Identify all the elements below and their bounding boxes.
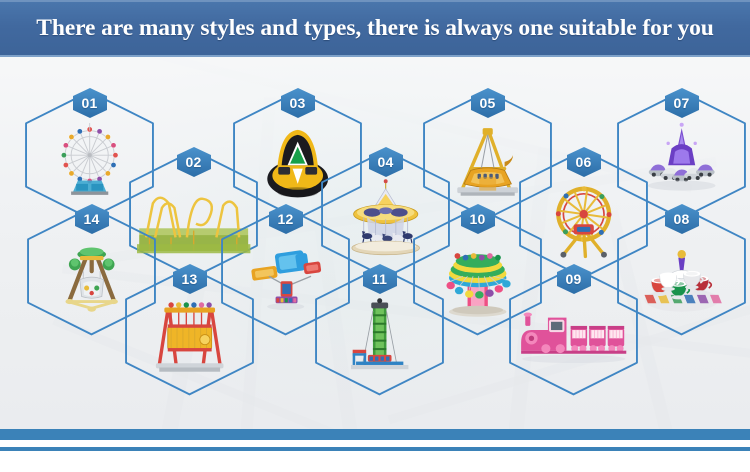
hex-number-label: 06 <box>576 154 592 170</box>
hex-number-badge-07: 07 <box>663 87 701 119</box>
hex-number-badge-13: 13 <box>171 263 209 295</box>
hex-number-badge-08: 08 <box>663 203 701 235</box>
hex-number-label: 09 <box>566 271 582 287</box>
hex-number-badge-14: 14 <box>73 203 111 235</box>
hex-number-badge-04: 04 <box>367 146 405 178</box>
hex-number-label: 11 <box>372 271 387 287</box>
footer-bar-thick <box>0 429 750 440</box>
hex-number-label: 12 <box>278 211 294 227</box>
hex-number-badge-09: 09 <box>555 263 593 295</box>
hex-number-label: 14 <box>84 211 100 227</box>
ride-image-self-control-car <box>625 118 738 202</box>
hex-number-badge-01: 01 <box>71 87 109 119</box>
hex-number-label: 03 <box>290 95 306 111</box>
page-title: There are many styles and types, there i… <box>36 15 713 42</box>
hex-number-label: 07 <box>674 95 690 111</box>
footer-bar-gap <box>0 440 750 447</box>
hex-number-label: 08 <box>674 211 690 227</box>
hex-number-label: 04 <box>378 154 394 170</box>
hex-number-label: 01 <box>82 95 98 111</box>
hex-number-label: 13 <box>182 271 198 287</box>
hex-number-label: 10 <box>470 211 486 227</box>
header-banner: There are many styles and types, there i… <box>0 0 750 57</box>
promo-banner-page: There are many styles and types, there i… <box>0 0 750 472</box>
hex-number-badge-12: 12 <box>267 203 305 235</box>
hex-number-badge-02: 02 <box>175 146 213 178</box>
ride-image-teacup <box>625 234 738 318</box>
hex-number-badge-05: 05 <box>469 87 507 119</box>
ride-image-jungle-swing <box>35 234 148 318</box>
hex-number-badge-11: 11 <box>361 263 399 295</box>
hex-number-label: 02 <box>186 154 202 170</box>
footer-white <box>0 451 750 472</box>
hexagon-grid: 01 <box>0 57 750 429</box>
hex-number-label: 05 <box>480 95 496 111</box>
hex-number-badge-03: 03 <box>279 87 317 119</box>
hex-number-badge-10: 10 <box>459 203 497 235</box>
hex-number-badge-06: 06 <box>565 146 603 178</box>
